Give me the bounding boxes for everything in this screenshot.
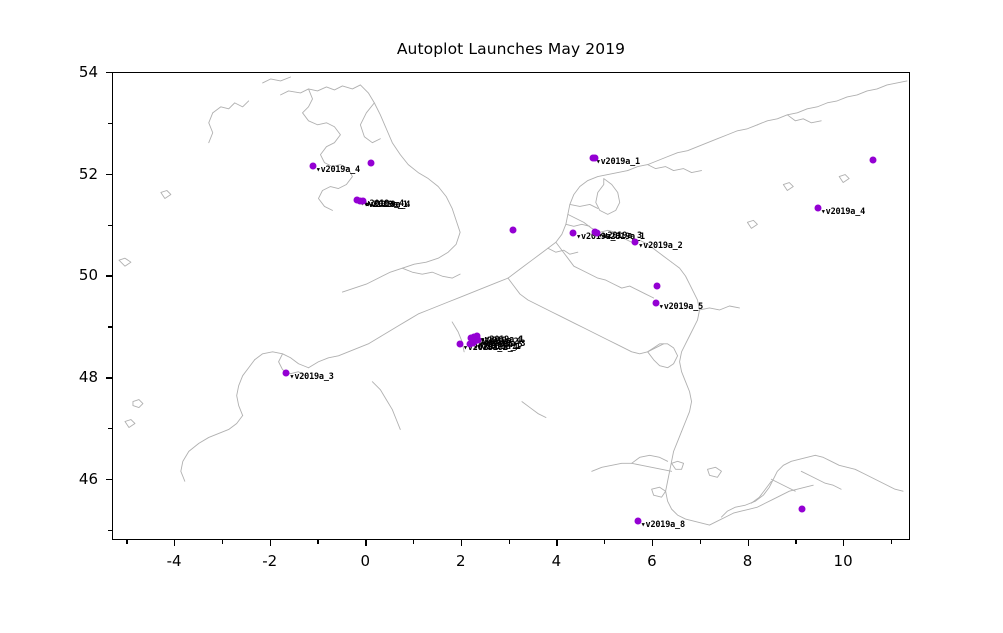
y-tick-major (106, 72, 112, 73)
map-coastlines (113, 73, 909, 539)
y-tick-minor (108, 225, 112, 226)
data-point[interactable] (367, 159, 374, 166)
x-tick-minor (604, 540, 605, 544)
y-tick-label: 52 (79, 165, 98, 183)
y-tick-label: 48 (79, 368, 98, 386)
x-tick-major (174, 540, 175, 546)
y-tick-major (106, 174, 112, 175)
x-tick-label: 2 (456, 552, 466, 570)
y-tick-major (106, 479, 112, 480)
x-tick-major (556, 540, 557, 546)
data-point-label: ▾v2019a_4 (473, 343, 517, 353)
data-point-label: ▾v2019a_3 (289, 372, 333, 382)
data-point-label: ▾v2019a_4 (821, 207, 865, 217)
y-tick-label: 46 (79, 470, 98, 488)
x-tick-minor (509, 540, 510, 544)
figure-canvas: Autoplot Launches May 2019 (0, 0, 1003, 633)
x-tick-major (843, 540, 844, 546)
y-tick-minor (108, 428, 112, 429)
x-tick-major (748, 540, 749, 546)
data-point[interactable] (591, 155, 598, 162)
data-point-label: ▾v2019a_5 (659, 302, 703, 312)
x-tick-minor (700, 540, 701, 544)
data-point[interactable] (870, 157, 877, 164)
x-tick-label: -4 (167, 552, 182, 570)
x-tick-major (365, 540, 366, 546)
data-point[interactable] (799, 506, 806, 513)
x-tick-label: 0 (360, 552, 370, 570)
x-tick-major (461, 540, 462, 546)
data-point-label: ▾v2019a_4 (316, 165, 360, 175)
data-point-label: ▾v2019a_8 (641, 520, 685, 530)
x-tick-major (270, 540, 271, 546)
x-tick-label: 6 (647, 552, 657, 570)
x-tick-major (652, 540, 653, 546)
x-tick-label: -2 (262, 552, 277, 570)
y-tick-label: 54 (79, 63, 98, 81)
x-tick-label: 8 (743, 552, 753, 570)
plot-area[interactable] (112, 72, 910, 540)
page-title: Autoplot Launches May 2019 (112, 40, 910, 58)
x-tick-minor (317, 540, 318, 544)
y-tick-major (106, 275, 112, 276)
y-tick-major (106, 377, 112, 378)
x-tick-label: 4 (552, 552, 562, 570)
x-tick-label: 10 (834, 552, 853, 570)
x-tick-minor (413, 540, 414, 544)
data-point-label: ▾v2019a_2 (638, 241, 682, 251)
y-tick-minor (108, 326, 112, 327)
data-point[interactable] (510, 226, 517, 233)
x-tick-minor (891, 540, 892, 544)
x-tick-minor (126, 540, 127, 544)
data-point-label: ▾v2019a_4 (366, 200, 410, 210)
x-tick-minor (222, 540, 223, 544)
y-tick-minor (108, 530, 112, 531)
y-tick-label: 50 (79, 266, 98, 284)
data-point[interactable] (653, 282, 660, 289)
y-tick-minor (108, 123, 112, 124)
x-tick-minor (795, 540, 796, 544)
data-point-label: ▾v2019a_1 (596, 157, 640, 167)
